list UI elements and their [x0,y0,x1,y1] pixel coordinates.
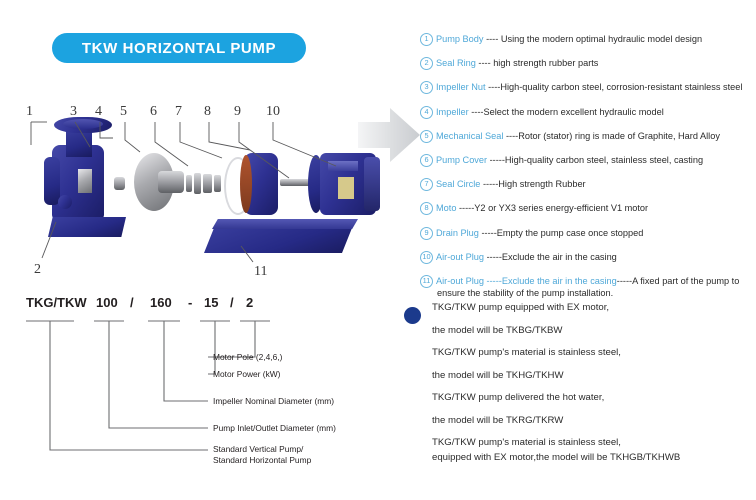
callout-11: 11 [254,264,267,280]
impeller-hub [158,171,184,193]
model-label-motor-power: Motor Power (kW) [213,369,280,380]
note-line-4: the model will be TKHG/TKHW [432,370,756,381]
legend-item-2: 2Seal Ring ---- high strength rubber par… [420,57,756,70]
legend-number-4: 4 [420,106,433,119]
pump-exploded-diagram [8,95,358,285]
legend-item-7: 7Seal Circle -----High strength Rubber [420,178,756,191]
legend-item-10: 10Air-out Plug -----Exclude the air in t… [420,251,756,264]
callout-8: 8 [204,104,211,120]
callout-9: 9 [234,104,241,120]
legend-part-name-4: Impeller [436,107,469,117]
motor-terminal-box [328,161,358,171]
legend-number-1: 1 [420,33,433,46]
motor-nameplate [338,177,354,199]
legend-number-6: 6 [420,154,433,167]
legend-part-name-6: Pump Cover [436,155,487,165]
legend-part-name-8: Moto [436,203,456,213]
model-label-standard-vert: Standard Vertical Pump/ [213,444,303,455]
legend-part-name-7: Seal Circle [436,179,480,189]
legend-part-name-2: Seal Ring [436,58,476,68]
note-line-5: TKG/TKW pump delivered the hot water, [432,392,756,403]
legend-part-name-9: Drain Plug [436,227,479,237]
legend-part-desc-9: -----Empty the pump case once stopped [481,227,643,237]
note-line-3: TKG/TKW pump's material is stainless ste… [432,347,756,358]
callout-7: 7 [175,104,182,120]
sight-plate [78,169,92,193]
callout-10: 10 [266,104,280,120]
legend-part-desc-11-line2: ensure the stability of the pump install… [420,288,756,299]
mechanical-seal-spring [203,174,212,193]
legend-item-4: 4Impeller ----Select the modern excellen… [420,106,756,119]
legend-number-2: 2 [420,57,433,70]
legend-part-name-3: Impeller Nut [436,82,486,92]
model-variant-notes: TKG/TKW pump equipped with EX motor, the… [400,302,756,475]
legend-item-1: 1Pump Body ---- Using the modern optimal… [420,33,756,46]
legend-number-10: 10 [420,251,433,264]
title-banner: TKW HORIZONTAL PUMP [52,33,306,63]
base-plate-top [212,219,358,229]
legend-part-desc-1: ---- Using the modern optimal hydraulic … [486,34,702,44]
legend-part-name-11: Air-out Plug -----Exclude the air in the… [436,276,617,286]
model-code-breakdown: TKG/TKW 100 / 160 - 15 / 2 [8,295,358,495]
legend-item-3: 3Impeller Nut ----High-quality carbon st… [420,81,756,94]
callout-1: 1 [26,104,33,120]
note-line-2: the model will be TKBG/TKBW [432,325,756,336]
legend-number-9: 9 [420,227,433,240]
legend-number-11: 11 [420,275,433,288]
callout-6: 6 [150,104,157,120]
legend-item-6: 6Pump Cover -----High-quality carbon ste… [420,154,756,167]
model-label-impeller-diam: Impeller Nominal Diameter (mm) [213,396,334,407]
bullet-dot-icon [404,307,421,324]
legend-part-desc-6: -----High-quality carbon steel, stainles… [490,155,703,165]
legend-part-desc-11: -----A fixed part of the pump to [617,276,740,286]
page-title: TKW HORIZONTAL PUMP [82,40,276,57]
legend-number-7: 7 [420,178,433,191]
legend-item-11: 11Air-out Plug -----Exclude the air in t… [420,275,756,299]
drain-plug [58,195,72,209]
impeller-nut [114,177,125,190]
parts-legend: 1Pump Body ---- Using the modern optimal… [420,33,756,310]
model-label-standard-horiz: Standard Horizontal Pump [213,455,311,466]
callout-3: 3 [70,104,77,120]
legend-item-9: 9Drain Plug -----Empty the pump case onc… [420,227,756,240]
discharge-flange-face [63,119,103,129]
pump-base-foot [48,217,126,237]
callout-5: 5 [120,104,127,120]
legend-part-desc-10: -----Exclude the air in the casing [487,252,617,262]
legend-part-desc-8: -----Y2 or YX3 series energy-efficient V… [459,203,648,213]
note-line-8: equipped with EX motor,the model will be… [432,452,756,463]
callout-4: 4 [95,104,102,120]
legend-item-5: 5Mechanical Seal ----Rotor (stator) ring… [420,130,756,143]
mechanical-seal-ring-b [194,173,201,194]
model-label-motor-pole: Motor Pole (2,4,6,) [213,352,282,363]
legend-item-8: 8Moto -----Y2 or YX3 series energy-effic… [420,202,756,215]
legend-part-desc-7: -----High strength Rubber [483,179,586,189]
pump-suction-flange [44,157,60,205]
legend-part-name-1: Pump Body [436,34,484,44]
note-line-7: TKG/TKW pump's material is stainless ste… [432,437,756,448]
legend-number-3: 3 [420,81,433,94]
right-arrow-icon [356,104,422,166]
note-line-1: TKG/TKW pump equipped with EX motor, [432,302,756,313]
legend-part-desc-5: ----Rotor (stator) ring is made of Graph… [506,131,720,141]
pump-cover-gasket [240,155,252,213]
legend-part-desc-2: ---- high strength rubber parts [478,58,598,68]
mechanical-seal-ring-c [214,175,221,192]
legend-part-desc-4: ----Select the modern excellent hydrauli… [471,107,664,117]
mechanical-seal-ring-a [186,175,192,192]
legend-number-5: 5 [420,130,433,143]
legend-part-name-10: Air-out Plug [436,252,484,262]
legend-part-name-5: Mechanical Seal [436,131,503,141]
note-line-6: the model will be TKRG/TKRW [432,415,756,426]
legend-part-desc-3: ----High-quality carbon steel, corrosion… [488,82,742,92]
callout-2: 2 [34,262,41,278]
pump-spec-sheet: TKW HORIZONTAL PUMP [0,0,756,500]
model-label-inlet-outlet: Pump Inlet/Outlet Diameter (mm) [213,423,336,434]
legend-number-8: 8 [420,202,433,215]
